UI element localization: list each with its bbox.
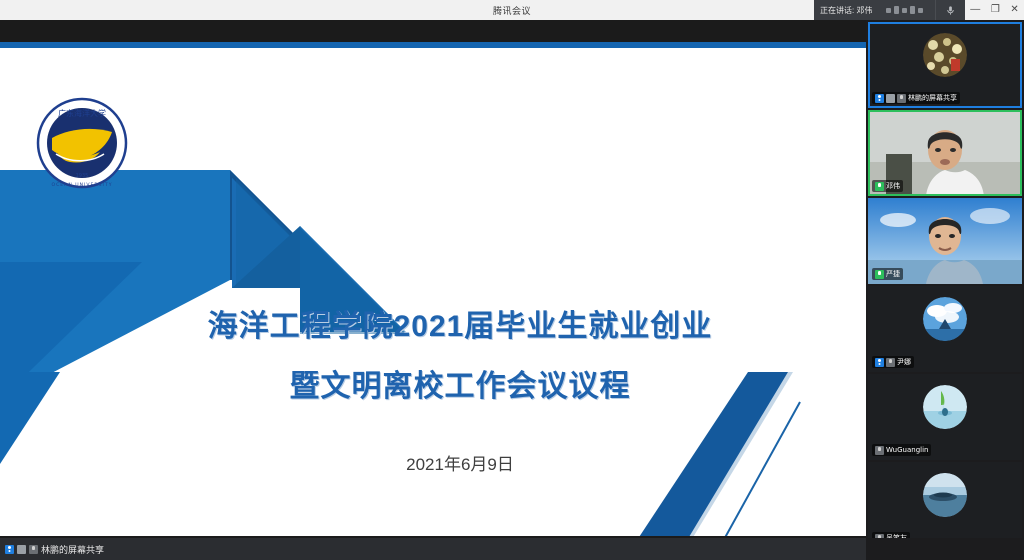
- minimize-button[interactable]: —: [970, 5, 980, 15]
- host-icon: [875, 358, 884, 367]
- tile-badge: 严捷: [872, 268, 903, 280]
- participant-tile[interactable]: 严捷: [868, 198, 1022, 284]
- participant-tile[interactable]: 吴笑友: [868, 462, 1022, 548]
- participant-name: 严捷: [886, 269, 900, 279]
- active-speaker-indicator: 正在讲话: 邓伟: [814, 0, 878, 20]
- tencent-meeting-window: 腾讯会议 正在讲话: 邓伟 — ❐ ✕: [0, 0, 1024, 560]
- tile-badge: 林鹏的屏幕共享: [872, 92, 960, 104]
- active-speaker-label: 正在讲话: 邓伟: [820, 5, 872, 16]
- panel-footer: [866, 538, 1024, 560]
- audio-wave-icon[interactable]: [873, 0, 935, 20]
- participant-tile[interactable]: 邓伟: [868, 110, 1022, 196]
- host-icon: [5, 545, 14, 554]
- slide-top-accent-bar: [0, 42, 866, 48]
- avatar: [923, 385, 967, 429]
- participant-name: 邓伟: [886, 181, 900, 191]
- mic-muted-icon: [875, 446, 884, 455]
- wave-bar: [902, 8, 907, 13]
- microphone-icon[interactable]: [935, 0, 965, 20]
- screen-share-icon: [886, 94, 895, 103]
- mic-on-icon: [875, 182, 884, 191]
- wave-bar: [894, 6, 899, 14]
- status-bar: 林鹏的屏幕共享: [0, 538, 866, 560]
- logo-en-name: OCEAN UNIVERSITY: [51, 182, 112, 188]
- wave-bar: [918, 8, 923, 13]
- logo-year: 1935: [76, 173, 89, 179]
- window-controls: — ❐ ✕: [965, 0, 1024, 20]
- slide-date: 2021年6月9日: [120, 450, 800, 475]
- avatar: [923, 297, 967, 341]
- avatar: [923, 33, 967, 77]
- tile-badge: 邓伟: [872, 180, 903, 192]
- participant-name: 尹娜: [897, 357, 911, 367]
- logo-cn-name: 广东海洋大学: [58, 108, 106, 118]
- slide-title-line-1: 海洋工程学院2021届毕业生就业创业: [120, 297, 800, 357]
- slide-title: 海洋工程学院2021届毕业生就业创业 暨文明离校工作会议议程: [120, 297, 800, 417]
- participant-tile[interactable]: 尹娜: [868, 286, 1022, 372]
- maximize-button[interactable]: ❐: [991, 5, 1000, 15]
- wave-bar: [886, 8, 891, 13]
- participant-name: 林鹏的屏幕共享: [908, 93, 957, 103]
- host-icon: [875, 94, 884, 103]
- slide-title-line-2: 暨文明离校工作会议议程: [120, 357, 800, 417]
- mic-muted-icon: [29, 545, 38, 554]
- presentation-slide: 广东海洋大学 1935 OCEAN UNIVERSITY 海洋工程学院2021届…: [0, 42, 866, 536]
- tile-badge: 尹娜: [872, 356, 914, 368]
- status-share-label: 林鹏的屏幕共享: [41, 543, 104, 556]
- close-button[interactable]: ✕: [1010, 5, 1018, 15]
- wave-bar: [910, 6, 915, 14]
- mic-on-icon: [875, 270, 884, 279]
- screen-share-icon: [17, 545, 26, 554]
- tile-badge: WuGuanglin: [872, 444, 931, 456]
- participant-name: WuGuanglin: [886, 446, 928, 454]
- participant-tile[interactable]: 林鹏的屏幕共享: [868, 22, 1022, 108]
- shared-screen-area[interactable]: 广东海洋大学 1935 OCEAN UNIVERSITY 海洋工程学院2021届…: [0, 20, 866, 538]
- participant-tile[interactable]: WuGuanglin: [868, 374, 1022, 460]
- mic-muted-icon: [886, 358, 895, 367]
- avatar: [923, 473, 967, 517]
- university-logo: 广东海洋大学 1935 OCEAN UNIVERSITY: [26, 94, 138, 192]
- participant-video-panel[interactable]: 林鹏的屏幕共享 邓伟: [866, 20, 1024, 538]
- mic-muted-icon: [897, 94, 906, 103]
